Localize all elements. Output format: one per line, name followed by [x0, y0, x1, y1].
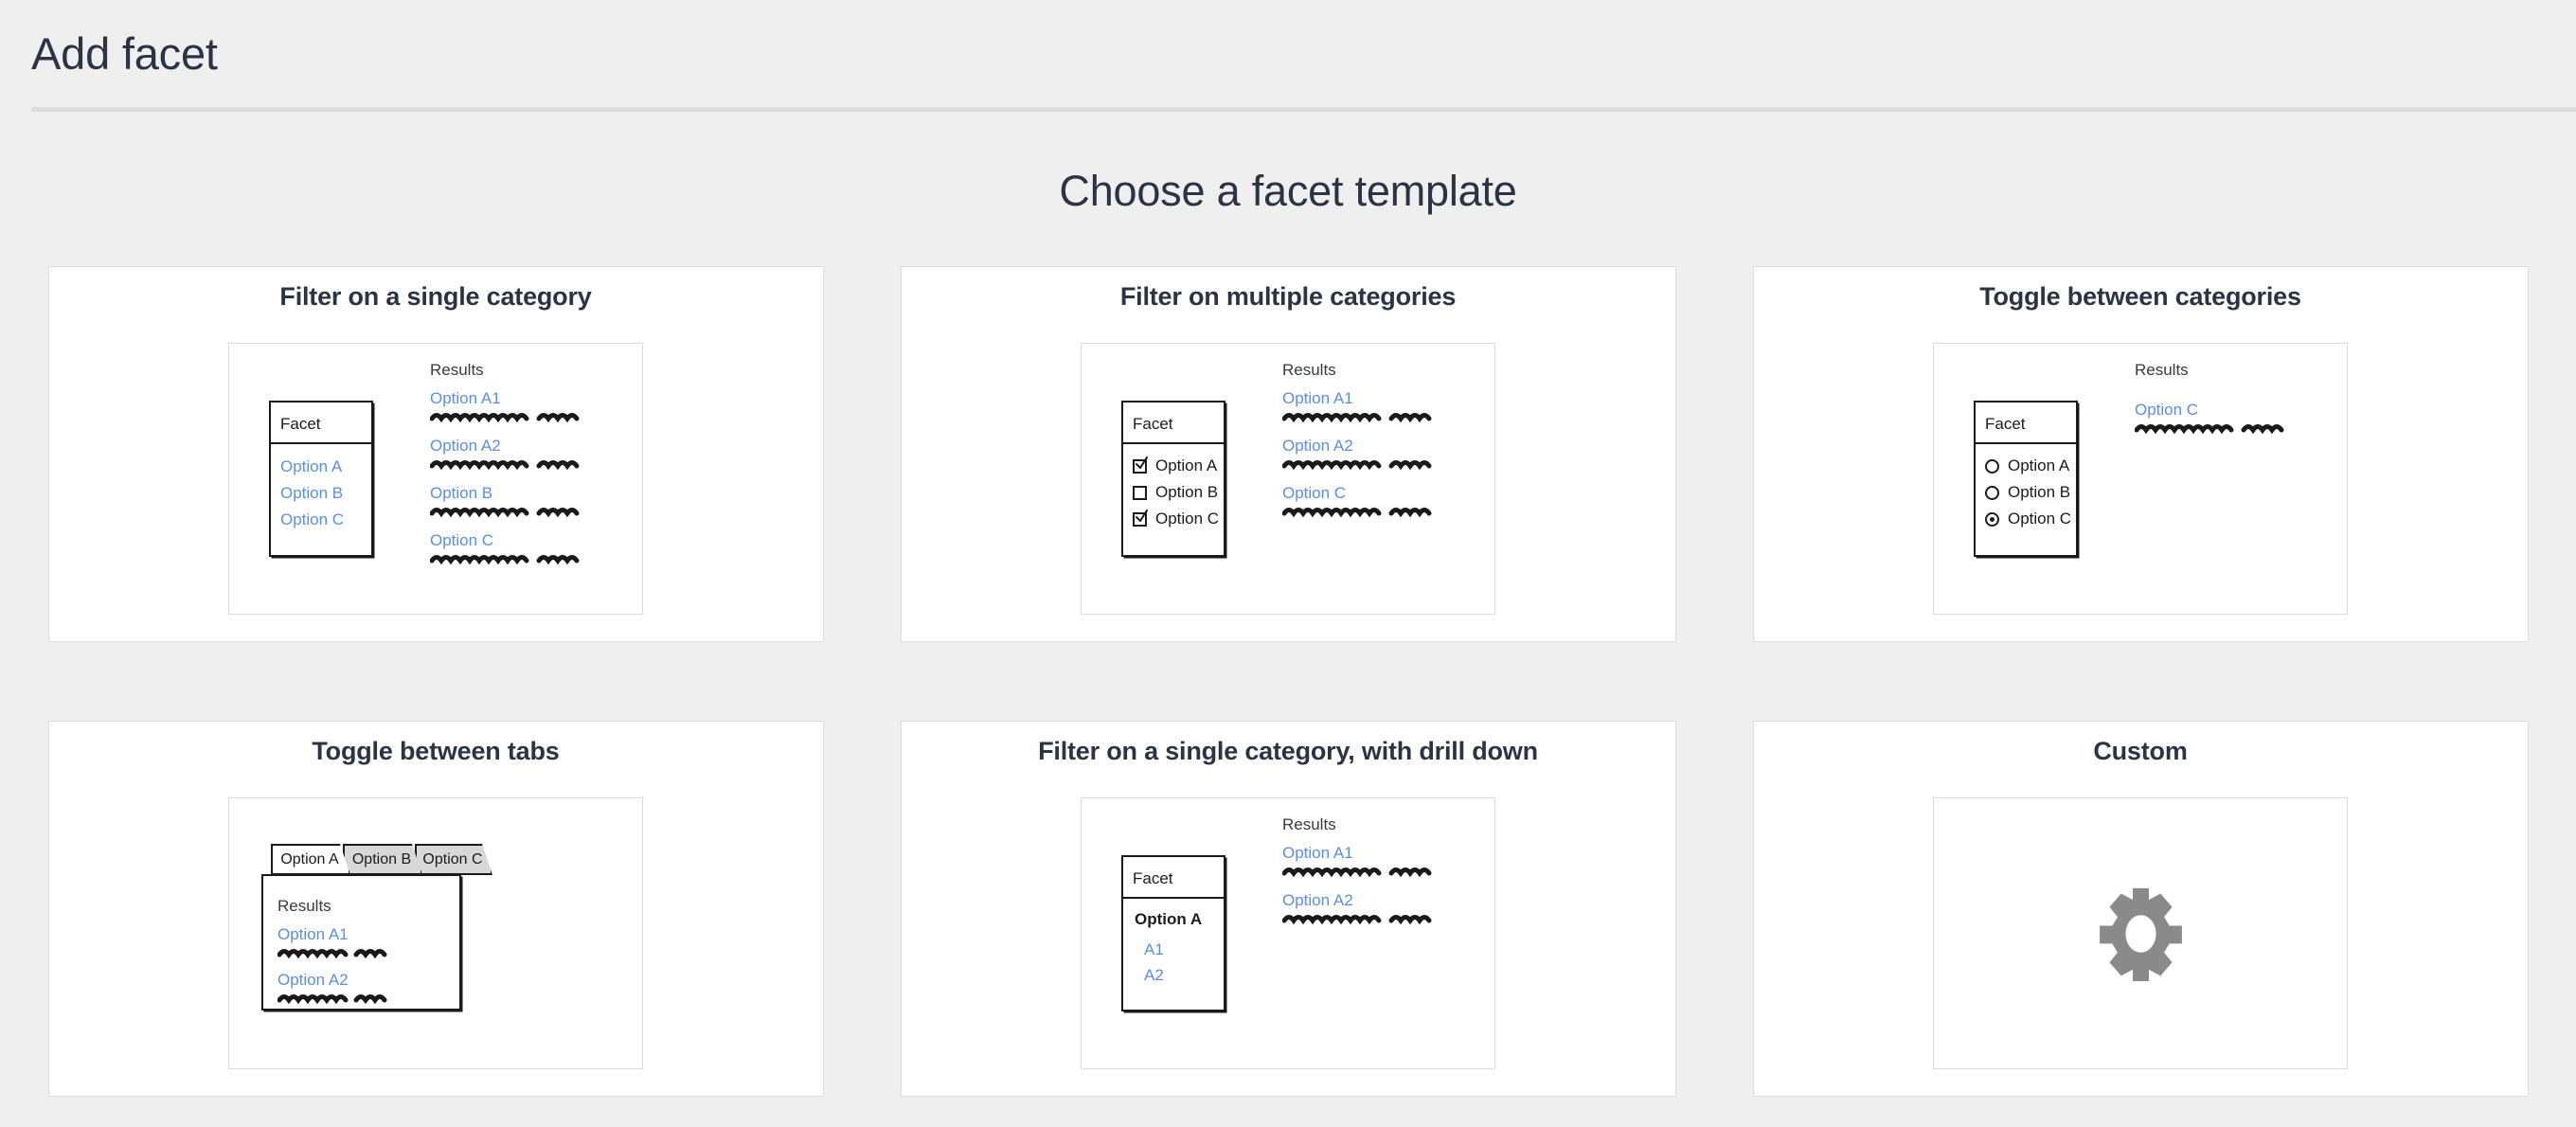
scribble-line	[277, 944, 391, 959]
sketch-result-link-1[interactable]: Option A2	[430, 437, 581, 456]
sketch-facet-header: Facet	[280, 415, 321, 434]
sketch-results-header: Results	[1282, 361, 1336, 380]
sketch-results-header: Results	[2135, 361, 2189, 380]
sketch-radio-row-2[interactable]: Option C	[1985, 510, 2071, 528]
sketch-facet-header: Facet	[1133, 415, 1173, 434]
sketch-facet-panel: Facet Option A Option B Option C	[1974, 401, 2078, 557]
section-title: Choose a facet template	[0, 167, 2576, 216]
sketch-facet-panel: Facet Option A A1 A2	[1121, 855, 1225, 1011]
sketch-result-item-0[interactable]: Option A1	[430, 389, 581, 423]
sketch-tab-option-a[interactable]: Option A	[271, 844, 350, 875]
sketch-checkbox-row-0[interactable]: Option A	[1133, 456, 1217, 475]
sketch-result-item-1[interactable]: Option A2	[1282, 891, 1434, 925]
template-card-filter-multiple-categories[interactable]: Filter on multiple categories Facet Opti…	[901, 266, 1676, 642]
radio-dot-icon	[1990, 517, 1995, 522]
page-header: Add facet	[0, 0, 2576, 107]
gear-icon-wrapper	[1934, 798, 2347, 1068]
scribble-line	[1282, 503, 1434, 518]
sketch-result-item-2[interactable]: Option B	[430, 484, 581, 518]
template-card-custom[interactable]: Custom	[1753, 721, 2529, 1097]
template-card-title: Toggle between tabs	[49, 722, 823, 766]
header-divider	[31, 107, 2576, 112]
template-preview-wrapper: Facet Option A Option B	[902, 343, 1675, 615]
sketch-facet-divider	[1123, 442, 1224, 444]
sketch-facet-divider	[1123, 897, 1224, 899]
scribble-line	[1282, 863, 1434, 878]
sketch-tab-option-c[interactable]: Option C	[415, 844, 492, 875]
template-preview-wrapper: Option C Option B Option A Results Optio…	[49, 797, 823, 1069]
sketch-result-link-1[interactable]: Option A2	[1282, 891, 1434, 910]
sketch-result-link-0[interactable]: Option A1	[277, 925, 391, 944]
sketch-facet-divider	[271, 442, 371, 444]
scribble-line	[430, 456, 581, 471]
sketch-facet-panel: Facet Option A Option B	[1121, 401, 1225, 557]
sketch-facet-header: Facet	[1985, 415, 2026, 434]
sketch-result-item-1[interactable]: Option A2	[277, 971, 391, 1005]
sketch-radio-row-1[interactable]: Option B	[1985, 483, 2070, 502]
sketch-drill-child-0[interactable]: A1	[1144, 940, 1164, 959]
checkbox-checked-icon[interactable]	[1133, 459, 1147, 474]
sketch-facet-panel: Facet Option A Option B Option C	[269, 401, 373, 557]
sketch-result-link-2[interactable]: Option B	[430, 484, 581, 503]
template-preview-wrapper: Facet Option A Option B Option C Results…	[49, 343, 823, 615]
sketch-radio-row-0[interactable]: Option A	[1985, 456, 2069, 475]
sketch-result-item-1[interactable]: Option A2	[1282, 437, 1434, 471]
sketch-radio-label-2: Option C	[2008, 510, 2071, 528]
sketch-facet-divider	[1976, 442, 2076, 444]
sketch-tab-option-b[interactable]: Option B	[343, 844, 422, 875]
template-card-title: Custom	[1754, 722, 2528, 766]
template-card-toggle-between-categories[interactable]: Toggle between categories Facet Option A…	[1753, 266, 2529, 642]
template-card-toggle-between-tabs[interactable]: Toggle between tabs Option C Option B Op…	[48, 721, 824, 1097]
template-card-filter-single-category-drill-down[interactable]: Filter on a single category, with drill …	[901, 721, 1676, 1097]
sketch-checkbox-label-1: Option B	[1155, 483, 1218, 502]
scribble-line	[430, 550, 581, 565]
sketch-result-link-0[interactable]: Option A1	[1282, 389, 1434, 408]
sketch-drill-parent: Option A	[1135, 910, 1202, 929]
sketch-results-header: Results	[430, 361, 484, 380]
template-grid: Filter on a single category Facet Option…	[0, 266, 2576, 1097]
template-card-filter-single-category[interactable]: Filter on a single category Facet Option…	[48, 266, 824, 642]
sketch-checkbox-row-2[interactable]: Option C	[1133, 510, 1219, 528]
scribble-line	[430, 503, 581, 518]
sketch-drill-child-1[interactable]: A2	[1144, 966, 1164, 985]
template-card-title: Toggle between categories	[1754, 267, 2528, 312]
template-preview-filter-single-category: Facet Option A Option B Option C Results…	[228, 343, 643, 615]
sketch-result-link-1[interactable]: Option A2	[277, 971, 391, 990]
sketch-results-header: Results	[277, 897, 331, 916]
sketch-result-link-0[interactable]: Option C	[2135, 401, 2286, 420]
sketch-checkbox-label-0: Option A	[1155, 456, 1217, 475]
sketch-result-item-0[interactable]: Option A1	[1282, 844, 1434, 878]
sketch-checkbox-row-1[interactable]: Option B	[1133, 483, 1218, 502]
sketch-result-link-0[interactable]: Option A1	[430, 389, 581, 408]
template-preview-filter-multiple-categories: Facet Option A Option B	[1081, 343, 1495, 615]
sketch-result-item-3[interactable]: Option C	[430, 531, 581, 565]
sketch-facet-option-1[interactable]: Option B	[280, 484, 343, 503]
sketch-radio-label-1: Option B	[2008, 483, 2070, 502]
template-preview-toggle-between-tabs: Option C Option B Option A Results Optio…	[228, 797, 643, 1069]
scribble-line	[1282, 910, 1434, 925]
scribble-line	[277, 990, 391, 1005]
radio-unselected-icon[interactable]	[1985, 486, 1999, 500]
checkbox-unchecked-icon[interactable]	[1133, 486, 1147, 500]
gear-icon	[2096, 886, 2186, 981]
sketch-radio-label-0: Option A	[2008, 456, 2069, 475]
template-preview-wrapper: Facet Option A A1 A2 Results Option A1 O…	[902, 797, 1675, 1069]
sketch-result-link-1[interactable]: Option A2	[1282, 437, 1434, 456]
check-mark-icon	[1136, 456, 1148, 469]
sketch-result-link-3[interactable]: Option C	[430, 531, 581, 550]
checkbox-checked-icon[interactable]	[1133, 512, 1147, 527]
template-preview-custom	[1933, 797, 2348, 1069]
template-card-title: Filter on a single category	[49, 267, 823, 312]
template-card-title: Filter on a single category, with drill …	[902, 722, 1675, 766]
scribble-line	[1282, 408, 1434, 423]
sketch-result-item-0[interactable]: Option A1	[277, 925, 391, 959]
sketch-checkbox-label-2: Option C	[1155, 510, 1219, 528]
radio-selected-icon[interactable]	[1985, 512, 1999, 527]
sketch-tabs-body: Results Option A1 Option A2	[261, 874, 461, 1011]
sketch-result-item-1[interactable]: Option A2	[430, 437, 581, 471]
template-preview-toggle-between-categories: Facet Option A Option B Option C	[1933, 343, 2348, 615]
sketch-facet-header: Facet	[1133, 869, 1173, 888]
template-preview-wrapper: Facet Option A Option B Option C	[1754, 343, 2528, 615]
sketch-facet-option-2[interactable]: Option C	[280, 510, 344, 529]
sketch-result-link-0[interactable]: Option A1	[1282, 844, 1434, 863]
page-title: Add facet	[31, 27, 218, 80]
sketch-result-item-0[interactable]: Option C	[2135, 401, 2286, 435]
template-preview-filter-single-category-drill-down: Facet Option A A1 A2 Results Option A1 O…	[1081, 797, 1495, 1069]
scribble-line	[430, 408, 581, 423]
template-card-title: Filter on multiple categories	[902, 267, 1675, 312]
radio-unselected-icon[interactable]	[1985, 459, 1999, 474]
sketch-facet-option-0[interactable]: Option A	[280, 457, 342, 476]
template-preview-wrapper	[1754, 797, 2528, 1069]
sketch-results-header: Results	[1282, 815, 1336, 834]
sketch-result-item-0[interactable]: Option A1	[1282, 389, 1434, 423]
scribble-line	[1282, 456, 1434, 471]
sketch-result-item-2[interactable]: Option C	[1282, 484, 1434, 518]
check-mark-icon	[1136, 510, 1148, 522]
sketch-result-link-2[interactable]: Option C	[1282, 484, 1434, 503]
scribble-line	[2135, 420, 2286, 435]
